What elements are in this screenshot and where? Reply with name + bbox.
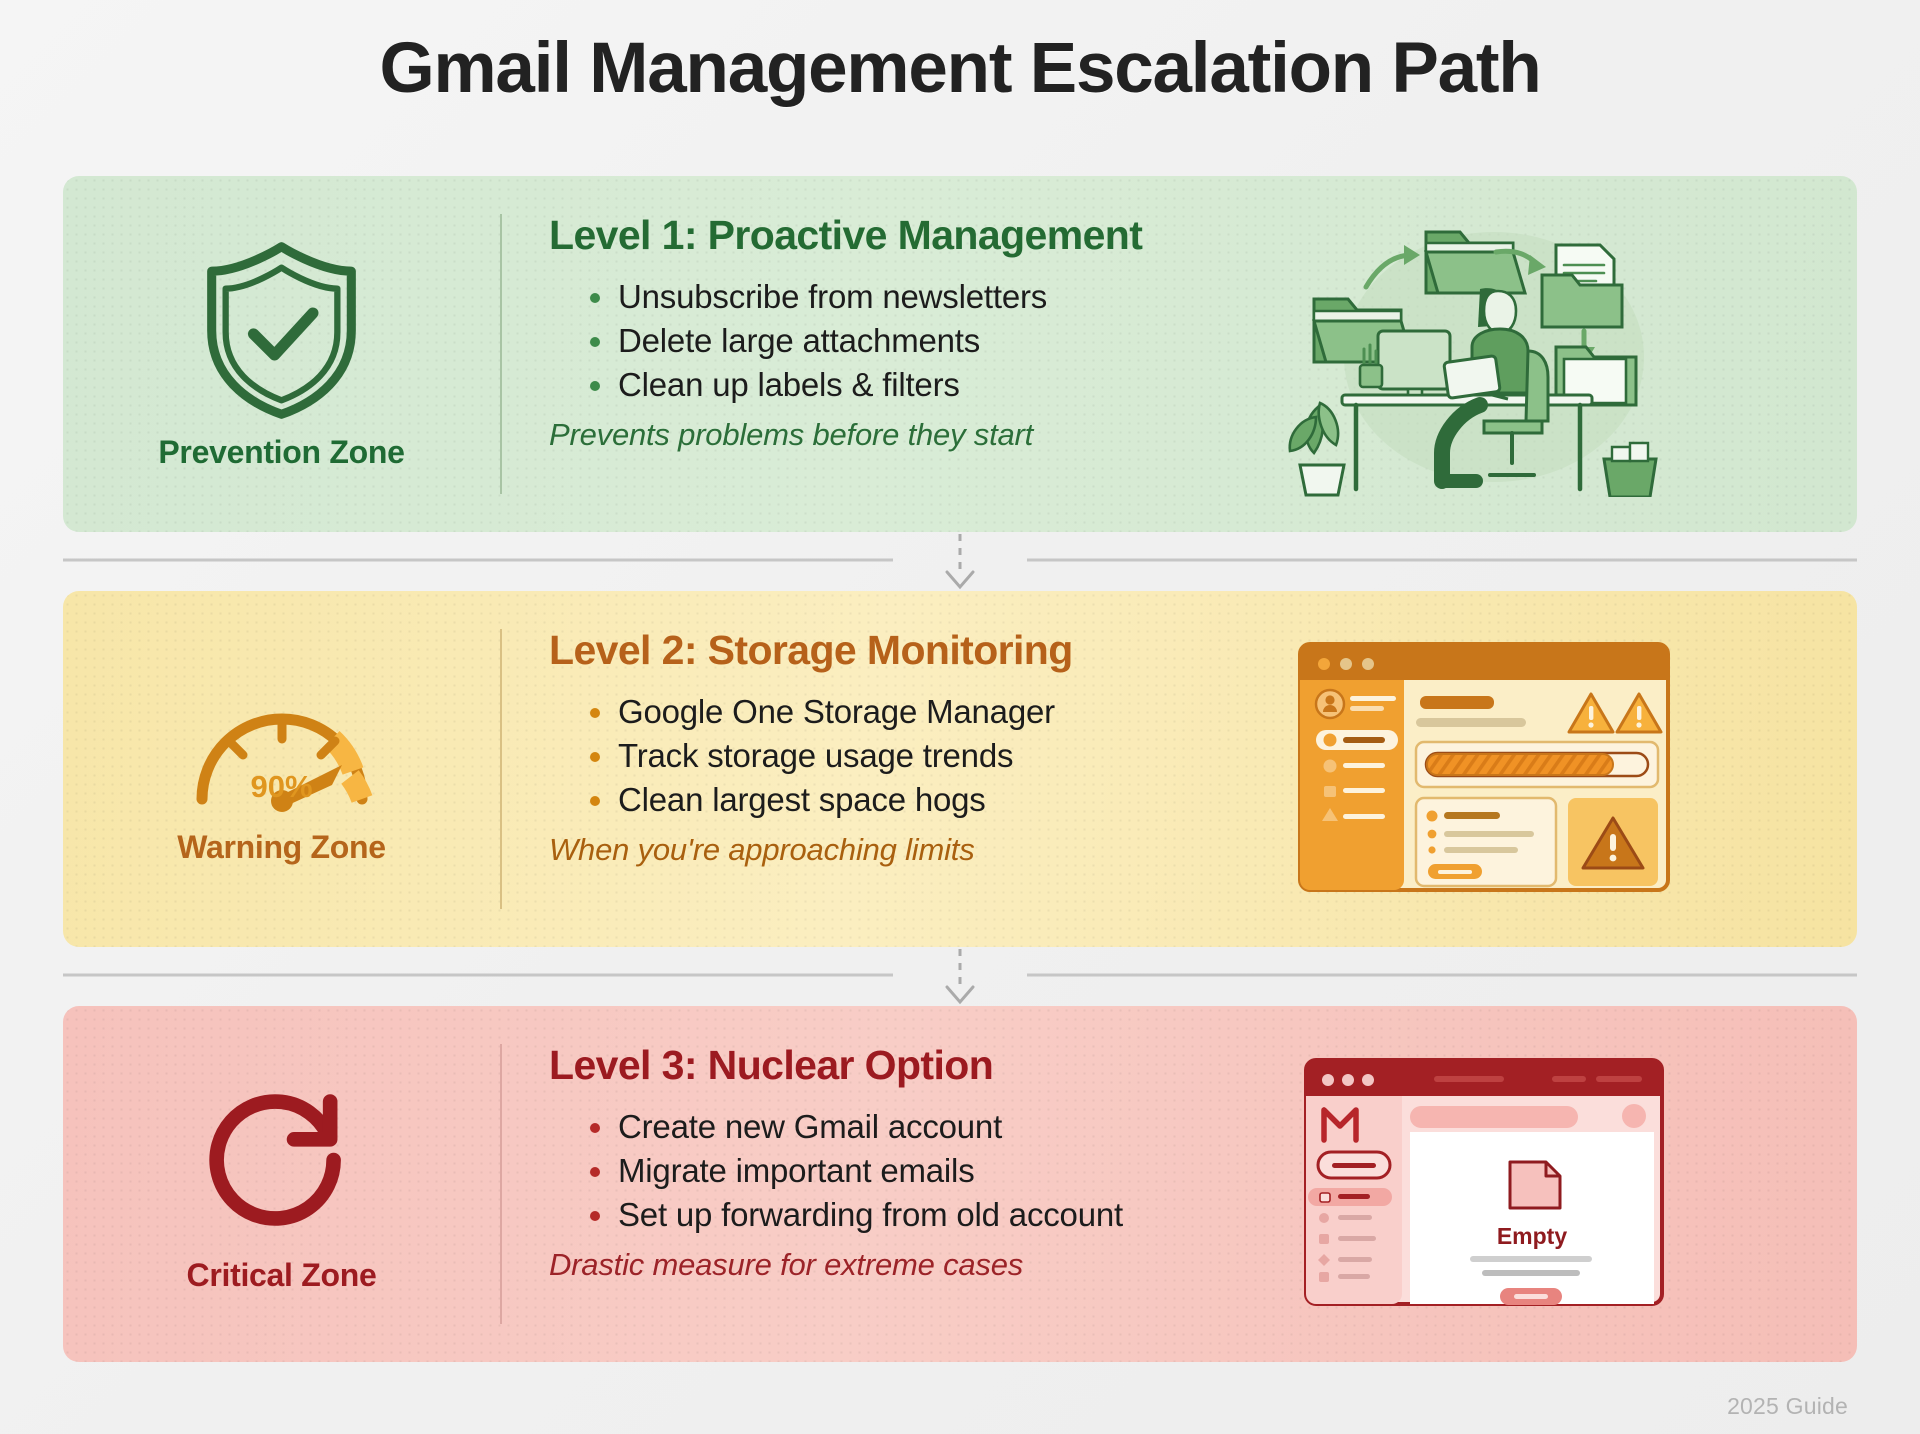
gauge-icon: 90% [182,673,382,823]
level-3-bullet-list: Create new Gmail account Migrate importa… [588,1105,1282,1238]
level-1-heading: Level 1: Proactive Management [549,212,1282,259]
level-1-icon-column: Prevention Zone [63,176,500,532]
gauge-value-label: 90% [182,769,382,805]
level-2-text-column: Level 2: Storage Monitoring Google One S… [502,591,1282,947]
list-item: Clean up labels & filters [588,363,1282,407]
level-1-bullet-list: Unsubscribe from newsletters Delete larg… [588,275,1282,408]
list-item: Set up forwarding from old account [588,1193,1282,1237]
level-3-zone-label: Critical Zone [187,1257,377,1294]
level-2-panel: 90% Warning Zone Level 2: Storage Monito… [63,591,1857,947]
list-item: Track storage usage trends [588,734,1282,778]
person-organizing-folders-illustration [1284,207,1684,502]
level-3-text-column: Level 3: Nuclear Option Create new Gmail… [502,1006,1282,1362]
level-3-icon-column: Critical Zone [63,1006,500,1362]
level-2-illustration-column [1282,591,1702,947]
level-1-caption: Prevents problems before they start [549,417,1282,453]
level-1-text-column: Level 1: Proactive Management Unsubscrib… [502,176,1282,532]
list-item: Migrate important emails [588,1149,1282,1193]
level-3-illustration-column: Empty [1282,1006,1702,1362]
connector-level1-to-level2 [63,532,1857,592]
level-2-heading: Level 2: Storage Monitoring [549,627,1282,674]
infographic-root: Gmail Management Escalation Path Prevent… [0,0,1920,1434]
level-3-heading: Level 3: Nuclear Option [549,1042,1282,1089]
list-item: Google One Storage Manager [588,690,1282,734]
level-2-caption: When you're approaching limits [549,832,1282,868]
level-3-caption: Drastic measure for extreme cases [549,1247,1282,1283]
level-1-illustration-column [1282,176,1702,532]
page-title: Gmail Management Escalation Path [0,0,1920,104]
level-1-zone-label: Prevention Zone [158,434,404,471]
level-1-panel: Prevention Zone Level 1: Proactive Manag… [63,176,1857,532]
connector-level2-to-level3 [63,947,1857,1007]
level-3-panel: Critical Zone Level 3: Nuclear Option Cr… [63,1006,1857,1362]
level-2-icon-column: 90% Warning Zone [63,591,500,947]
list-item: Delete large attachments [588,319,1282,363]
list-item: Clean largest space hogs [588,778,1282,822]
list-item: Create new Gmail account [588,1105,1282,1149]
shield-check-icon [194,238,369,428]
empty-state-label: Empty [1497,1223,1568,1249]
gmail-empty-inbox-illustration: Empty [1304,1058,1664,1311]
storage-dashboard-warning-illustration [1298,642,1670,897]
level-2-zone-label: Warning Zone [177,829,386,866]
footer-note: 2025 Guide [1727,1393,1848,1420]
list-item: Unsubscribe from newsletters [588,275,1282,319]
refresh-reset-icon [196,1074,368,1251]
level-2-bullet-list: Google One Storage Manager Track storage… [588,690,1282,823]
